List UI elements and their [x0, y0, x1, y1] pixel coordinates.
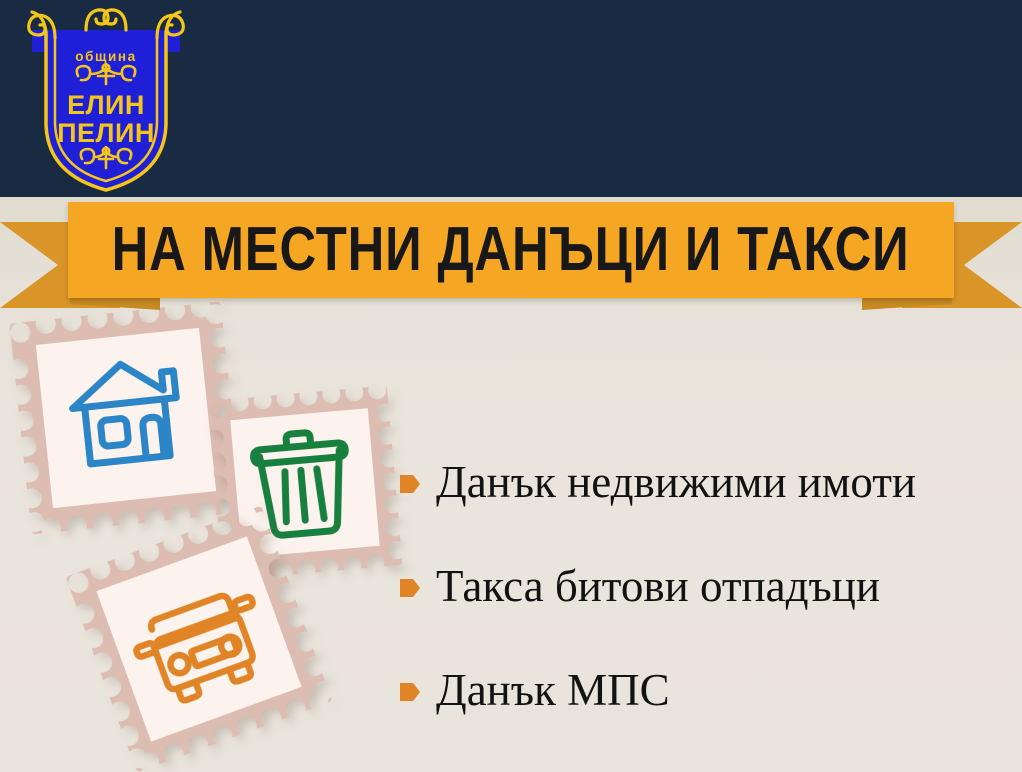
- shield-emblem-icon: община ЕЛИН ПЕЛИН: [22, 4, 190, 194]
- logo-name-line-2: ПЕЛИН: [57, 118, 155, 148]
- list-item-label: Данък МПС: [436, 665, 670, 715]
- arrow-bullet-icon: [400, 472, 420, 496]
- poster-root: ПРОВЕРКА И ПЛАЩАНЕ НА ЗАДЪЛЖЕНИЯ община: [0, 0, 1022, 772]
- logo-municipality-word: община: [75, 49, 137, 64]
- ribbon-main-panel: НА МЕСТНИ ДАНЪЦИ И ТАКСИ: [68, 202, 954, 298]
- tax-type-list: Данък недвижими имоти Такса битови отпад…: [400, 430, 1015, 742]
- list-item[interactable]: Данък недвижими имоти: [400, 430, 1015, 534]
- list-item[interactable]: Данък МПС: [400, 638, 1015, 742]
- arrow-bullet-icon: [400, 680, 420, 704]
- list-item-label: Такса битови отпадъци: [436, 561, 880, 611]
- municipality-logo: община ЕЛИН ПЕЛИН: [22, 4, 190, 194]
- list-item[interactable]: Такса битови отпадъци: [400, 534, 1015, 638]
- ribbon-banner: НА МЕСТНИ ДАНЪЦИ И ТАКСИ: [0, 198, 1022, 308]
- list-item-label: Данък недвижими имоти: [436, 457, 916, 507]
- logo-name-line-1: ЕЛИН: [67, 90, 145, 120]
- arrow-bullet-icon: [400, 576, 420, 600]
- ribbon-label: НА МЕСТНИ ДАНЪЦИ И ТАКСИ: [112, 217, 910, 283]
